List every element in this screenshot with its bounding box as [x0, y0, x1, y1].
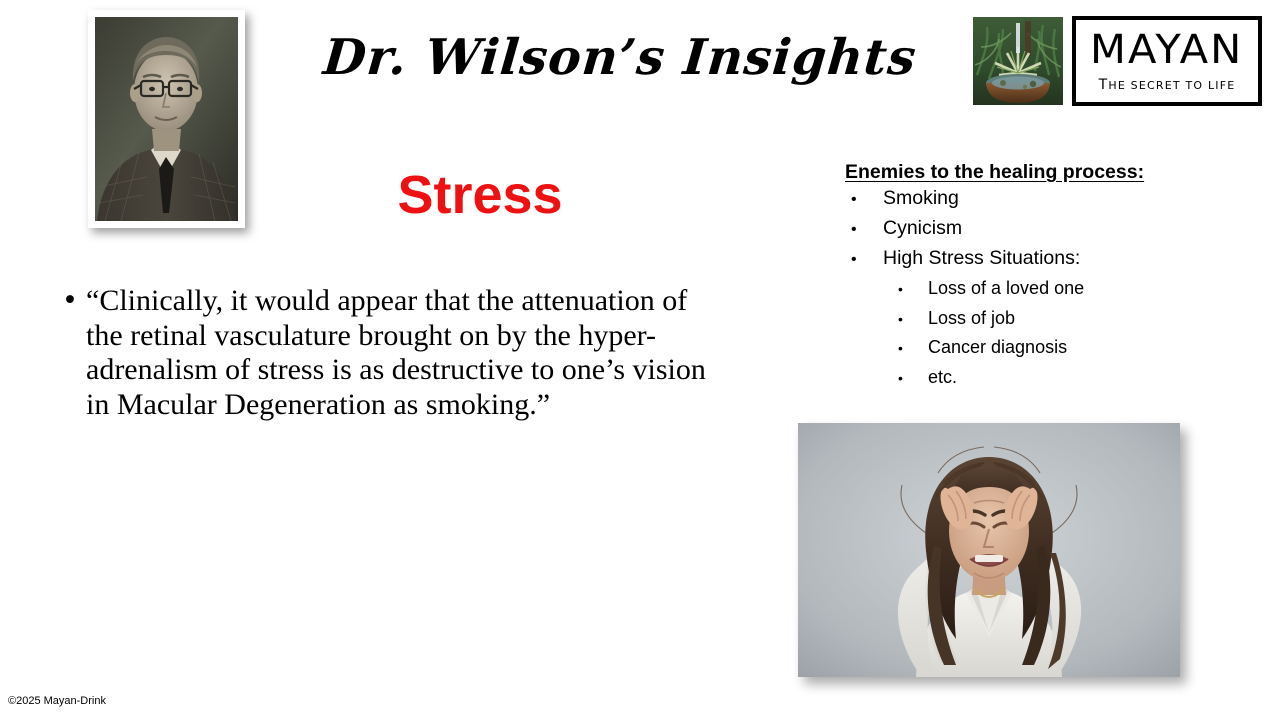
mayan-logo-box: MAYAN THE SECRET TO LIFE [1072, 16, 1262, 106]
bullet-marker: • [898, 334, 928, 363]
list-item-label: Cancer diagnosis [928, 333, 1067, 362]
list-item-label: Loss of job [928, 304, 1015, 333]
enemies-list: •Smoking•Cynicism•High Stress Situations… [845, 184, 1205, 392]
bullet-marker: • [898, 305, 928, 334]
list-item-label: etc. [928, 363, 957, 392]
bullet-marker: • [62, 284, 86, 318]
list-item-label: Cynicism [883, 214, 962, 243]
bullet-marker: • [851, 185, 883, 214]
portrait-frame [88, 10, 245, 228]
quote-block: • “Clinically, it would appear that the … [62, 284, 722, 422]
list-item-label: High Stress Situations: [883, 244, 1080, 273]
list-item: •Cancer diagnosis [845, 333, 1205, 363]
bromeliad-fountain-photo [973, 17, 1063, 105]
stress-illustration [798, 423, 1180, 677]
plant-illustration [973, 17, 1063, 105]
list-item: •Loss of job [845, 304, 1205, 334]
mayan-wordmark: MAYAN [1090, 30, 1243, 70]
page-title: Dr. Wilson’s Insights [297, 28, 942, 86]
list-item: •etc. [845, 363, 1205, 393]
footer-copyright: ©2025 Mayan-Drink [8, 695, 106, 707]
quote-text: “Clinically, it would appear that the at… [86, 284, 722, 422]
bullet-marker: • [898, 275, 928, 304]
dr-wilson-portrait-photo [95, 17, 238, 221]
tagline-cap: T [1099, 77, 1109, 93]
list-item: •High Stress Situations: [845, 244, 1205, 274]
bullet-marker: • [851, 245, 883, 274]
portrait-illustration [95, 17, 238, 221]
list-item: •Cynicism [845, 214, 1205, 244]
stressed-woman-photo [798, 423, 1180, 677]
list-item-label: Smoking [883, 184, 959, 213]
mayan-tagline: THE SECRET TO LIFE [1099, 77, 1236, 93]
list-item: •Loss of a loved one [845, 274, 1205, 304]
tagline-rest: HE SECRET TO LIFE [1108, 79, 1235, 92]
bullet-marker: • [898, 364, 928, 393]
enemies-panel: Enemies to the healing process: •Smoking… [845, 160, 1205, 392]
section-heading: Stress [300, 168, 660, 222]
bullet-marker: • [851, 215, 883, 244]
list-item: •Smoking [845, 184, 1205, 214]
list-item-label: Loss of a loved one [928, 274, 1084, 303]
enemies-heading: Enemies to the healing process: [845, 160, 1205, 184]
